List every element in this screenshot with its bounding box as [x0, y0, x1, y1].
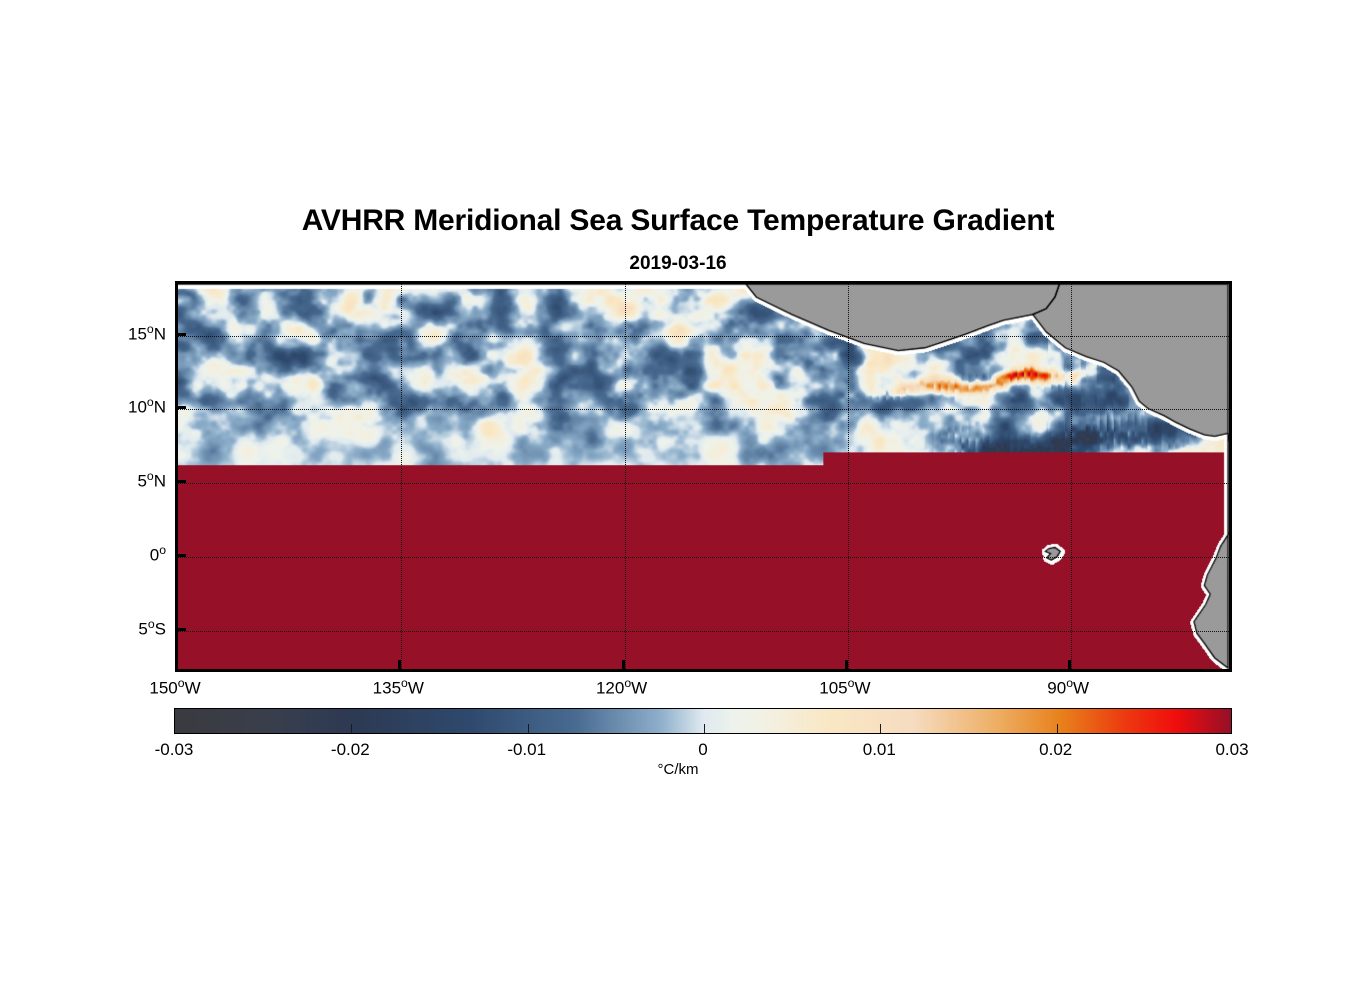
x-tick-label-1: 135oW	[338, 676, 458, 698]
colorbar-label-0: -0.03	[114, 740, 234, 760]
colorbar-tick-1	[351, 724, 352, 733]
colorbar-label-1: -0.02	[290, 740, 410, 760]
colorbar	[174, 708, 1232, 734]
y-tick-label-4: 5oS	[138, 617, 166, 639]
y-tick-label-0: 15oN	[128, 322, 166, 344]
page-title: AVHRR Meridional Sea Surface Temperature…	[0, 204, 1356, 238]
colorbar-tick-4	[880, 724, 881, 733]
colorbar-label-4: 0.01	[819, 740, 939, 760]
x-tick-4	[1068, 660, 1071, 671]
x-tick-label-4: 90oW	[1008, 676, 1128, 698]
x-tick-label-2: 120oW	[562, 676, 682, 698]
colorbar-label-3: 0	[643, 740, 763, 760]
colorbar-tick-2	[528, 724, 529, 733]
y-tick-label-1: 10oN	[128, 395, 166, 417]
figure-subtitle: 2019-03-16	[0, 253, 1356, 275]
y-tick-3	[175, 554, 186, 557]
colorbar-label-6: 0.03	[1172, 740, 1292, 760]
x-tick-2	[622, 660, 625, 671]
y-tick-0	[175, 333, 186, 336]
map-axes	[175, 281, 1232, 672]
y-tick-2	[175, 480, 186, 483]
x-tick-3	[845, 660, 848, 671]
x-tick-label-3: 105oW	[785, 676, 905, 698]
y-tick-label-3: 0o	[150, 543, 166, 565]
x-tick-1	[398, 660, 401, 671]
colorbar-label-5: 0.02	[996, 740, 1116, 760]
colorbar-unit-label: °C/km	[0, 761, 1356, 778]
figure-canvas: AVHRR Meridional Sea Surface Temperature…	[0, 0, 1356, 1000]
y-tick-label-2: 5oN	[137, 469, 166, 491]
colorbar-label-2: -0.01	[467, 740, 587, 760]
colorbar-tick-3	[704, 724, 705, 733]
sst-gradient-heatmap	[178, 284, 1229, 669]
colorbar-tick-5	[1057, 724, 1058, 733]
y-tick-1	[175, 406, 186, 409]
x-tick-label-0: 150oW	[115, 676, 235, 698]
y-tick-4	[175, 628, 186, 631]
